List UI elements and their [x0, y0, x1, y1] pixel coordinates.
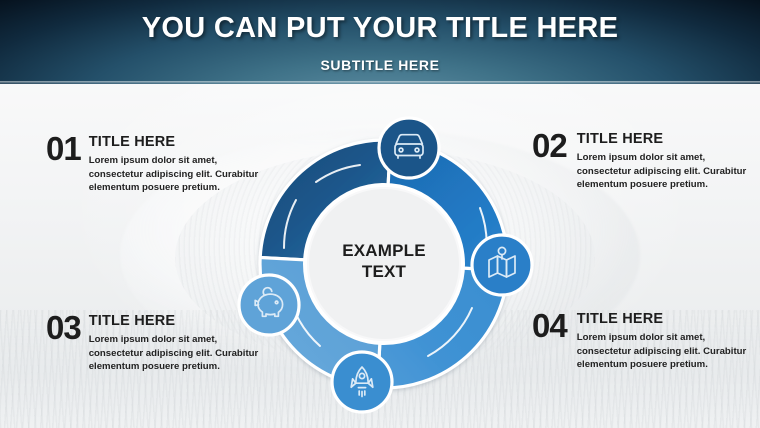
icon-bubble-car[interactable]: [379, 118, 439, 178]
block-title: TITLE HERE: [577, 131, 747, 147]
info-block-04[interactable]: 04 TITLE HERE Lorem ipsum dolor sit amet…: [532, 311, 747, 372]
donut-diagram: EXAMPLE TEXT: [228, 108, 540, 420]
block-number: 03: [46, 313, 81, 343]
block-number: 01: [46, 134, 81, 164]
block-body: TITLE HERE Lorem ipsum dolor sit amet, c…: [575, 131, 747, 192]
icon-bubble-piggy-bank[interactable]: [239, 275, 299, 335]
block-title: TITLE HERE: [577, 311, 747, 327]
info-block-02[interactable]: 02 TITLE HERE Lorem ipsum dolor sit amet…: [532, 131, 747, 192]
block-description: Lorem ipsum dolor sit amet, consectetur …: [577, 151, 747, 192]
block-body: TITLE HERE Lorem ipsum dolor sit amet, c…: [575, 311, 747, 372]
slide: YOU CAN PUT YOUR TITLE HERE SUBTITLE HER…: [0, 0, 760, 428]
icon-bubble-map[interactable]: [472, 235, 532, 295]
page-title: YOU CAN PUT YOUR TITLE HERE: [0, 12, 760, 45]
block-description: Lorem ipsum dolor sit amet, consectetur …: [577, 331, 747, 372]
icon-bubble-rocket[interactable]: [332, 352, 392, 412]
donut-center-hole: [305, 185, 463, 343]
page-subtitle: SUBTITLE HERE: [0, 57, 760, 73]
title-banner: YOU CAN PUT YOUR TITLE HERE SUBTITLE HER…: [0, 0, 760, 84]
donut-svg: [228, 108, 540, 420]
